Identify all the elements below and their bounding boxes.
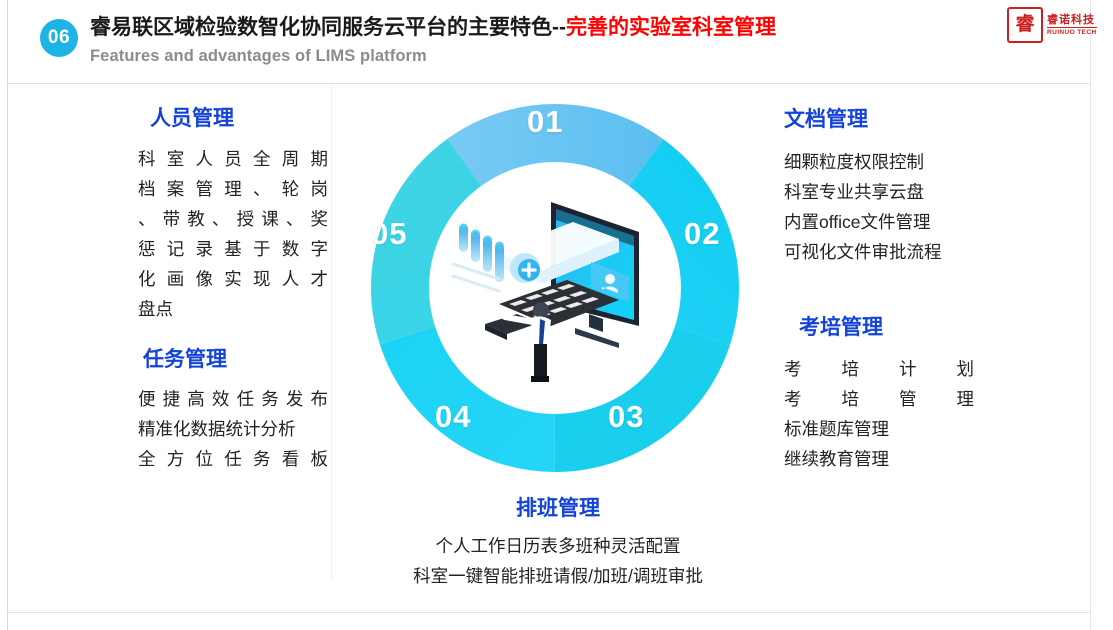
feature-title-training: 考培管理 <box>799 315 974 341</box>
feature-line: 盘点 <box>138 294 328 324</box>
logo-name-en: RUINUO TECH <box>1047 30 1097 37</box>
feature-block-document: 文档管理 细颗粒度权限控制 科室专业共享云盘 内置office文件管理 可视化文… <box>784 107 984 267</box>
feature-line: 惩记录基于数字 <box>138 234 328 264</box>
feature-line: 全方位任务看板 <box>138 444 328 474</box>
feature-body-training: 考培计划 考培管理 标准题库管理 继续教育管理 <box>784 354 974 474</box>
frame-divider-vertical <box>331 86 332 581</box>
page-title-main: 睿易联区域检验数智化协同服务云平台的主要特色-- <box>90 16 566 39</box>
bar-chart-icon <box>453 224 504 292</box>
feature-block-training: 考培管理 考培计划 考培管理 标准题库管理 继续教育管理 <box>784 315 974 474</box>
feature-line: 科室一键智能排班请假/加班/调班审批 <box>378 561 738 591</box>
feature-line: 考培管理 <box>784 384 974 414</box>
header-title-group: 睿易联区域检验数智化协同服务云平台的主要特色--完善的实验室科室管理 Featu… <box>90 14 990 67</box>
feature-line: 内置office文件管理 <box>784 207 984 237</box>
feature-line: 继续教育管理 <box>784 444 974 474</box>
logo-text-group: 睿诺科技 RUINUO TECH <box>1047 14 1097 37</box>
feature-block-task: 任务管理 便捷高效任务发布 精准化数据统计分析 全方位任务看板 <box>138 347 328 474</box>
feature-line: 档案管理、轮岗 <box>138 174 328 204</box>
feature-block-shift: 排班管理 个人工作日历表多班种灵活配置 科室一键智能排班请假/加班/调班审批 <box>378 496 738 591</box>
feature-line: 考培计划 <box>784 354 974 384</box>
page-title: 睿易联区域检验数智化协同服务云平台的主要特色--完善的实验室科室管理 <box>90 14 990 42</box>
feature-title-shift: 排班管理 <box>378 496 738 522</box>
feature-line: 科室专业共享云盘 <box>784 177 984 207</box>
feature-body-personnel: 科室人员全周期 档案管理、轮岗 、带教、授课、奖 惩记录基于数字 化画像实现人才… <box>138 144 328 324</box>
feature-title-task: 任务管理 <box>143 347 328 373</box>
logo-rule <box>1047 27 1097 28</box>
feature-line: 、带教、授课、奖 <box>138 204 328 234</box>
frame-border-left <box>7 0 8 630</box>
page-title-accent: 完善的实验室科室管理 <box>566 16 776 39</box>
feature-line: 化画像实现人才 <box>138 264 328 294</box>
frame-border-bottom <box>7 612 1091 613</box>
feature-line: 可视化文件审批流程 <box>784 237 984 267</box>
seal-stamp-icon: 睿 <box>1007 7 1043 43</box>
section-number-badge: 06 <box>40 19 78 57</box>
feature-title-document: 文档管理 <box>784 107 984 133</box>
feature-line: 便捷高效任务发布 <box>138 384 328 414</box>
feature-body-shift: 个人工作日历表多班种灵活配置 科室一键智能排班请假/加班/调班审批 <box>378 531 738 591</box>
plus-badge-icon <box>510 253 540 283</box>
logo-name-cn: 睿诺科技 <box>1047 14 1097 25</box>
seal-glyph: 睿 <box>1011 11 1039 39</box>
feature-block-personnel: 人员管理 科室人员全周期 档案管理、轮岗 、带教、授课、奖 惩记录基于数字 化画… <box>138 106 328 324</box>
feature-line: 精准化数据统计分析 <box>138 414 328 444</box>
feature-line: 标准题库管理 <box>784 414 974 444</box>
workstation-illustration-icon <box>443 176 667 400</box>
feature-title-personnel: 人员管理 <box>150 106 328 132</box>
feature-body-document: 细颗粒度权限控制 科室专业共享云盘 内置office文件管理 可视化文件审批流程 <box>784 147 984 267</box>
company-logo: 睿 睿诺科技 RUINUO TECH <box>1007 4 1089 46</box>
feature-line: 细颗粒度权限控制 <box>784 147 984 177</box>
feature-body-task: 便捷高效任务发布 精准化数据统计分析 全方位任务看板 <box>138 384 328 474</box>
frame-border-right <box>1090 0 1091 630</box>
donut-diagram: 01 02 03 04 05 <box>355 88 755 488</box>
slide-canvas: 06 睿易联区域检验数智化协同服务云平台的主要特色--完善的实验室科室管理 Fe… <box>0 0 1113 630</box>
page-subtitle: Features and advantages of LIMS platform <box>90 45 990 67</box>
slide-header: 06 睿易联区域检验数智化协同服务云平台的主要特色--完善的实验室科室管理 Fe… <box>0 0 1113 84</box>
feature-line: 个人工作日历表多班种灵活配置 <box>378 531 738 561</box>
feature-line: 科室人员全周期 <box>138 144 328 174</box>
header-divider <box>7 83 1091 84</box>
